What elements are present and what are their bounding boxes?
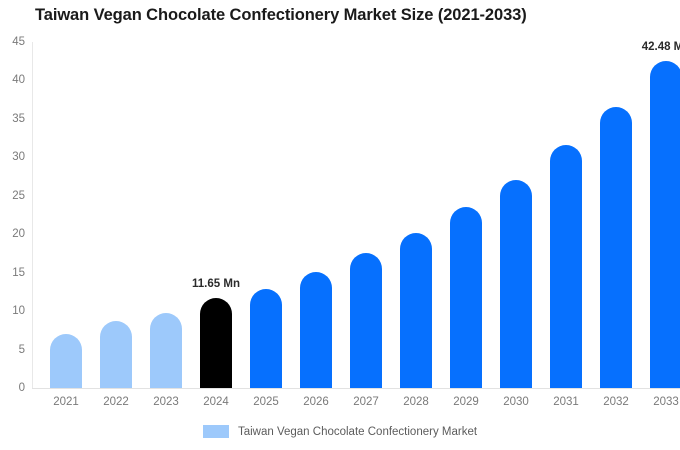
x-axis-tick-2029: 2029	[453, 396, 479, 408]
value-label-2033: 42.48 Mn	[642, 41, 680, 53]
bar-2028[interactable]	[400, 233, 432, 388]
bar-2023[interactable]	[150, 313, 182, 388]
bar-2026[interactable]	[300, 272, 332, 388]
chart-title: Taiwan Vegan Chocolate Confectionery Mar…	[35, 6, 527, 25]
bar-2025[interactable]	[250, 289, 282, 388]
value-label-2024: 11.65 Mn	[192, 278, 240, 290]
legend-swatch	[203, 425, 229, 438]
bar-2027[interactable]	[350, 253, 382, 388]
y-axis-tick-40: 40	[12, 74, 25, 86]
y-axis-tick-0: 0	[19, 382, 25, 394]
chart-legend: Taiwan Vegan Chocolate Confectionery Mar…	[0, 425, 680, 438]
bar-2031[interactable]	[550, 145, 582, 388]
bar-2030[interactable]	[500, 180, 532, 388]
y-axis-tick-35: 35	[12, 113, 25, 125]
y-axis-tick-45: 45	[12, 36, 25, 48]
x-axis-tick-2023: 2023	[153, 396, 179, 408]
y-axis-tick-30: 30	[12, 151, 25, 163]
x-axis-tick-2032: 2032	[603, 396, 629, 408]
x-axis-tick-2022: 2022	[103, 396, 129, 408]
x-axis-tick-2021: 2021	[53, 396, 79, 408]
y-axis-tick-20: 20	[12, 228, 25, 240]
x-axis-tick-2025: 2025	[253, 396, 279, 408]
y-axis-tick-15: 15	[12, 267, 25, 279]
bar-chart: Taiwan Vegan Chocolate Confectionery Mar…	[0, 0, 680, 450]
y-axis-tick-25: 25	[12, 190, 25, 202]
bar-2024[interactable]	[200, 298, 232, 388]
bars-layer	[32, 42, 680, 388]
plot-area: 051015202530354045 11.65 Mn42.48 Mn	[32, 42, 680, 388]
x-axis-tick-2031: 2031	[553, 396, 579, 408]
x-axis-tick-2033: 2033	[653, 396, 679, 408]
bar-2033[interactable]	[650, 61, 680, 388]
x-axis-tick-2027: 2027	[353, 396, 379, 408]
x-axis-line	[32, 388, 680, 389]
legend-label[interactable]: Taiwan Vegan Chocolate Confectionery Mar…	[238, 426, 477, 438]
y-axis-tick-5: 5	[19, 344, 25, 356]
x-axis-tick-2026: 2026	[303, 396, 329, 408]
bar-2029[interactable]	[450, 207, 482, 388]
bar-2022[interactable]	[100, 321, 132, 388]
y-axis-tick-10: 10	[12, 305, 25, 317]
x-axis-tick-2030: 2030	[503, 396, 529, 408]
x-axis-tick-2024: 2024	[203, 396, 229, 408]
bar-2032[interactable]	[600, 107, 632, 388]
x-axis-ticks: 2021202220232024202520262027202820292030…	[32, 396, 680, 416]
bar-2021[interactable]	[50, 334, 82, 388]
x-axis-tick-2028: 2028	[403, 396, 429, 408]
